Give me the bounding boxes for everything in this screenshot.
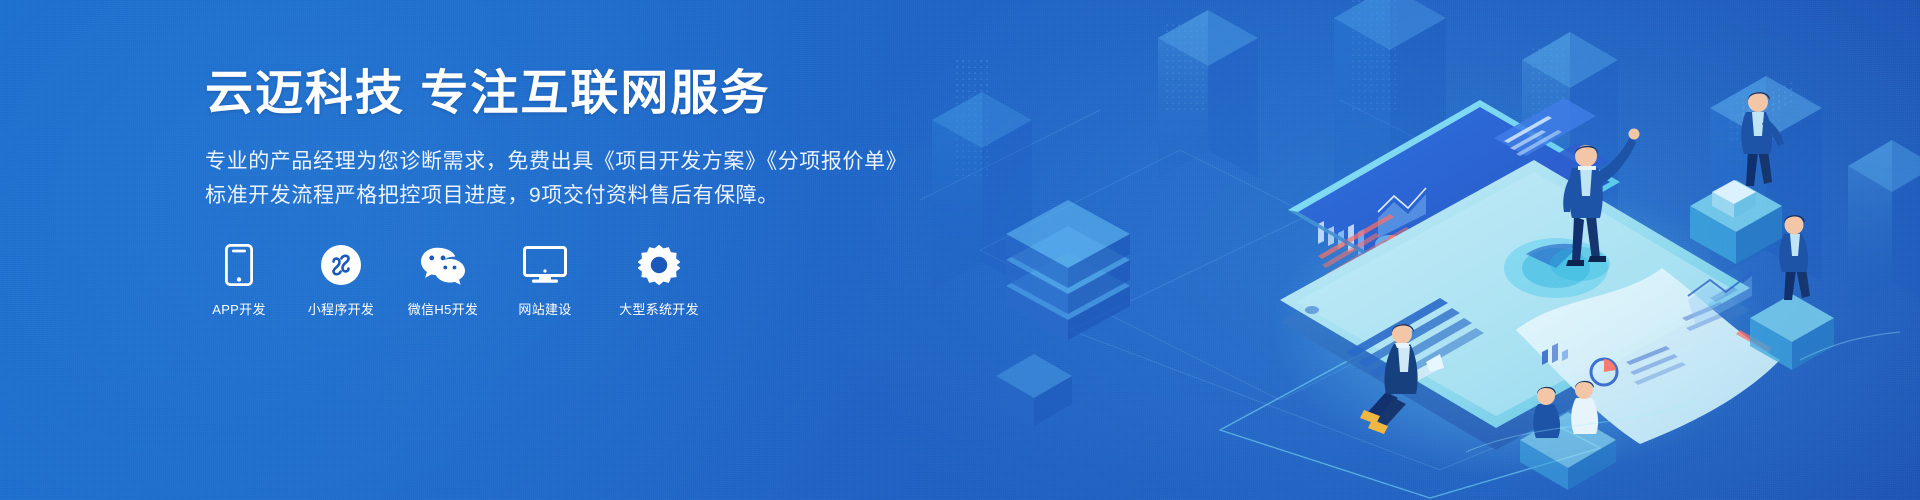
miniprogram-icon: [319, 243, 363, 287]
promo-banner: 云迈科技 专注互联网服务 专业的产品经理为您诊断需求，免费出具《项目开发方案》《…: [0, 0, 1920, 500]
gear-icon: [637, 243, 681, 287]
subtitle-line-1: 专业的产品经理为您诊断需求，免费出具《项目开发方案》《分项报价单》: [205, 145, 925, 179]
isometric-tech-illustration: [920, 0, 1920, 500]
smartphone-icon: [217, 243, 261, 287]
service-label-miniprogram: 小程序开发: [308, 299, 375, 318]
service-label-app: APP开发: [212, 299, 266, 318]
service-item-website[interactable]: 网站建设: [511, 243, 579, 318]
wechat-icon: [421, 243, 465, 287]
monitor-icon: [523, 243, 567, 287]
small-cube: [996, 354, 1072, 426]
subtitle-line-2: 标准开发流程严格把控项目进度，9项交付资料售后有保障。: [205, 179, 925, 213]
banner-subtitle: 专业的产品经理为您诊断需求，免费出具《项目开发方案》《分项报价单》 标准开发流程…: [205, 145, 925, 213]
service-list: APP开发 小程序开发: [205, 243, 925, 318]
service-item-miniprogram[interactable]: 小程序开发: [307, 243, 375, 318]
service-item-app[interactable]: APP开发: [205, 243, 273, 318]
service-item-system[interactable]: 大型系统开发: [613, 243, 705, 318]
service-label-wechat: 微信H5开发: [408, 299, 478, 318]
service-label-website: 网站建设: [518, 299, 571, 318]
page-title: 云迈科技 专注互联网服务: [205, 66, 925, 123]
service-item-wechat[interactable]: 微信H5开发: [409, 243, 477, 318]
service-label-system: 大型系统开发: [619, 299, 699, 318]
banner-content: 云迈科技 专注互联网服务 专业的产品经理为您诊断需求，免费出具《项目开发方案》《…: [205, 66, 925, 318]
